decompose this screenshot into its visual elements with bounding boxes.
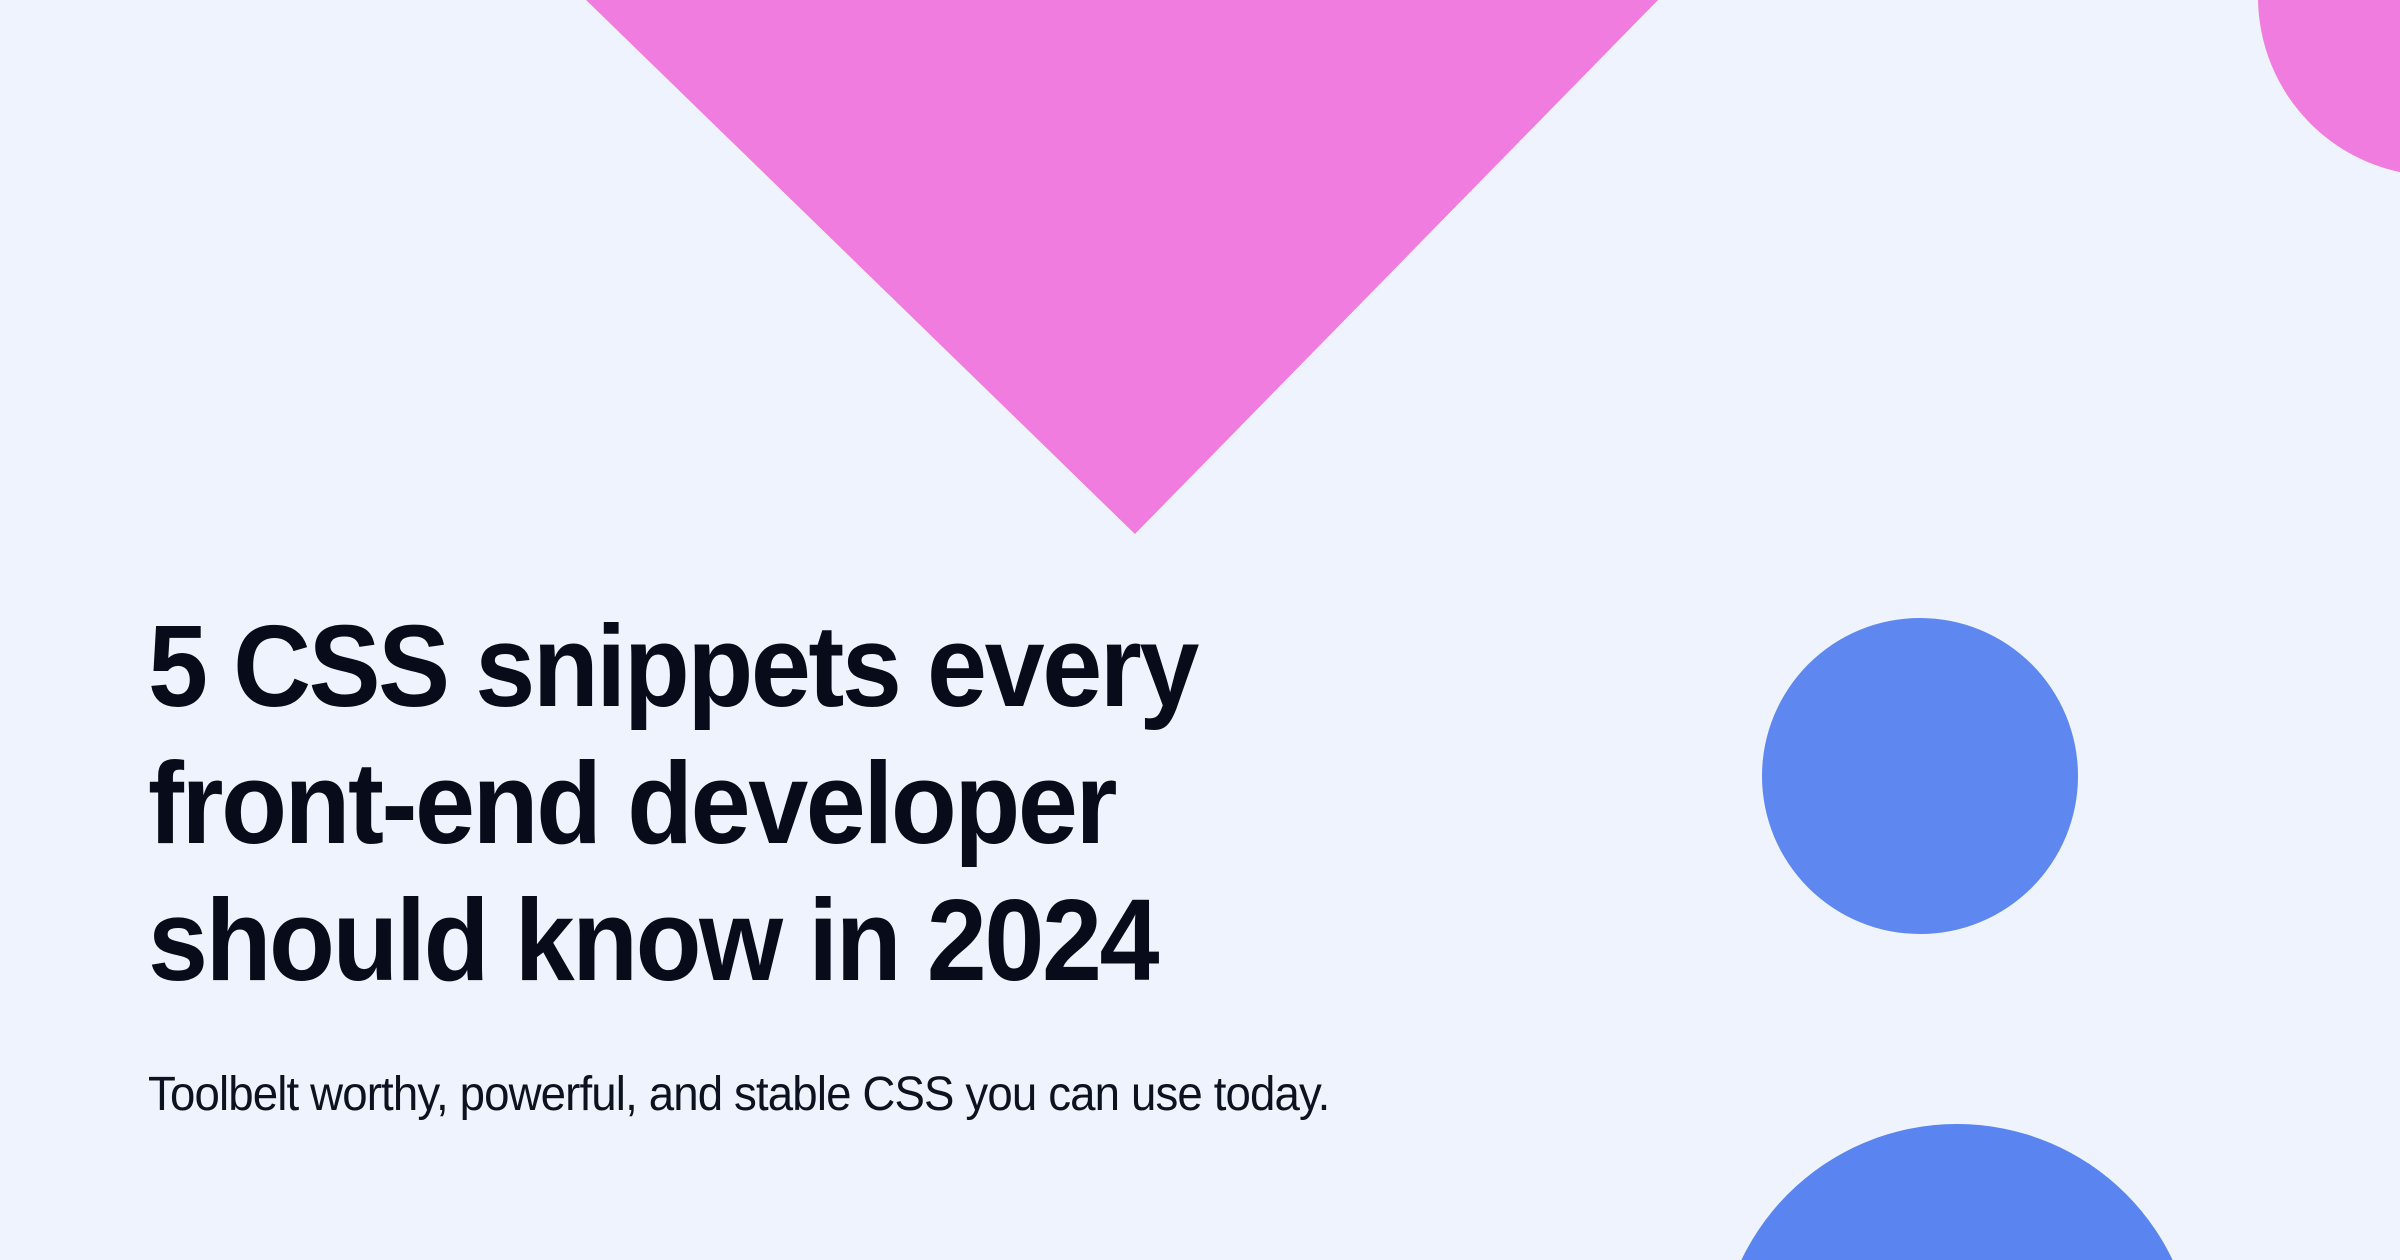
hero-text-block: 5 CSS snippets every front-end developer… [148, 598, 1448, 1124]
page-title: 5 CSS snippets every front-end developer… [148, 598, 1357, 1009]
blue-circle-decoration [1762, 618, 2078, 934]
blog-post-hero-card: 5 CSS snippets every front-end developer… [0, 0, 2400, 1260]
pink-circle-corner-decoration [2258, 0, 2400, 176]
page-subtitle: Toolbelt worthy, powerful, and stable CS… [148, 1009, 1383, 1124]
blue-circle-bottom-decoration [1718, 1124, 2196, 1260]
pink-triangle-decoration [584, 0, 1660, 534]
